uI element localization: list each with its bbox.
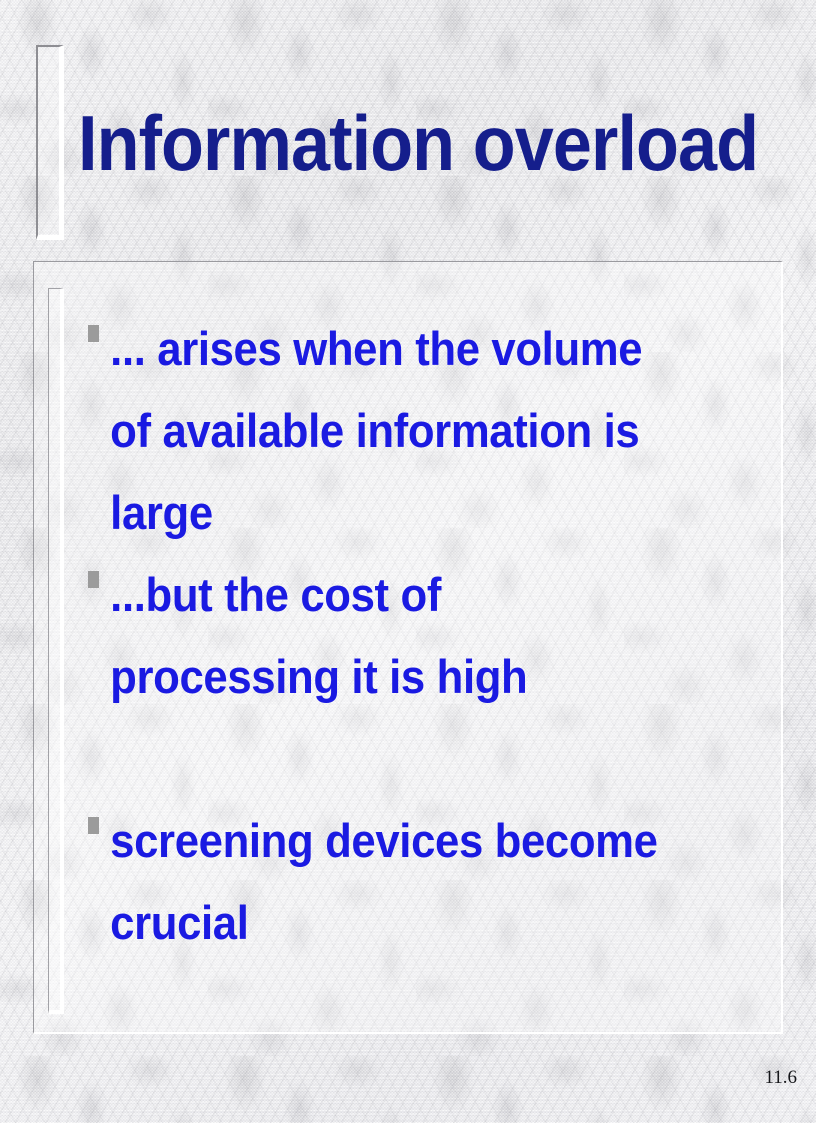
list-item-text: screening devices become crucial — [86, 800, 681, 964]
list-item-text: ... arises when the volume of available … — [86, 308, 681, 554]
slide-page-number: 11.6 — [764, 1067, 797, 1089]
content-decorative-bar — [48, 288, 64, 1014]
list-item: ... arises when the volume of available … — [86, 308, 726, 554]
list-item: screening devices become crucial — [86, 800, 726, 964]
presentation-slide: Information overload ... arises when the… — [0, 0, 816, 1123]
list-item-text: ...but the cost of processing it is high — [86, 554, 681, 718]
bullet-list: ... arises when the volume of available … — [86, 308, 726, 964]
list-item: ...but the cost of processing it is high — [86, 554, 726, 718]
title-decorative-frame — [36, 45, 64, 240]
page-title: Information overload — [78, 103, 672, 183]
